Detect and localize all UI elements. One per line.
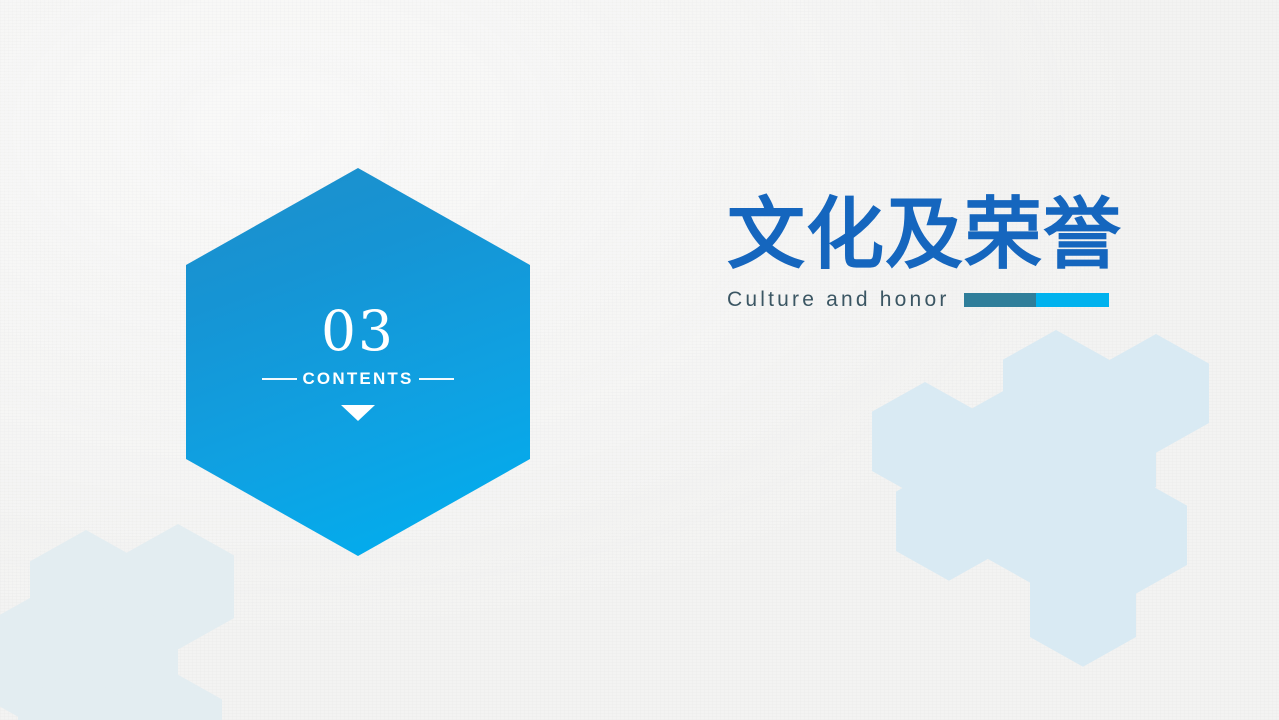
hexagon-decoration [1030,548,1136,667]
accent-bar-segment-right [1036,293,1109,307]
rule-right [419,378,454,380]
section-badge-content: 03 CONTENTS [186,168,530,556]
hexagon-decoration [1081,476,1187,595]
hexagon-decoration [18,670,130,720]
section-number-badge: 03 CONTENTS [186,168,530,556]
accent-bar [964,293,1109,307]
presentation-slide: 03 CONTENTS 文化及荣誉 Culture and honor [0,0,1279,720]
title-block: 文化及荣誉 Culture and honor [727,196,1147,312]
rule-left [262,378,297,380]
hexagon-decoration [66,598,178,720]
hexagon-decoration [1003,330,1109,449]
section-number: 03 [321,304,395,359]
hexagon-decoration [1103,334,1209,453]
hexagon-decoration [952,390,1058,509]
hexagon-decoration [0,598,86,720]
accent-bar-segment-left [964,293,1037,307]
hexagon-decoration [872,382,978,501]
hexagon-decoration [896,462,1002,581]
page-subtitle: Culture and honor [727,288,950,312]
hexagon-decoration [30,530,142,655]
contents-label: CONTENTS [297,369,418,389]
hexagon-decoration [1050,398,1156,517]
contents-label-row: CONTENTS [262,369,454,389]
chevron-down-icon [341,405,375,421]
hexagon-decoration [110,668,222,720]
page-title: 文化及荣誉 [727,196,1147,276]
subtitle-row: Culture and honor [727,288,1147,312]
hexagon-decoration [988,470,1094,589]
